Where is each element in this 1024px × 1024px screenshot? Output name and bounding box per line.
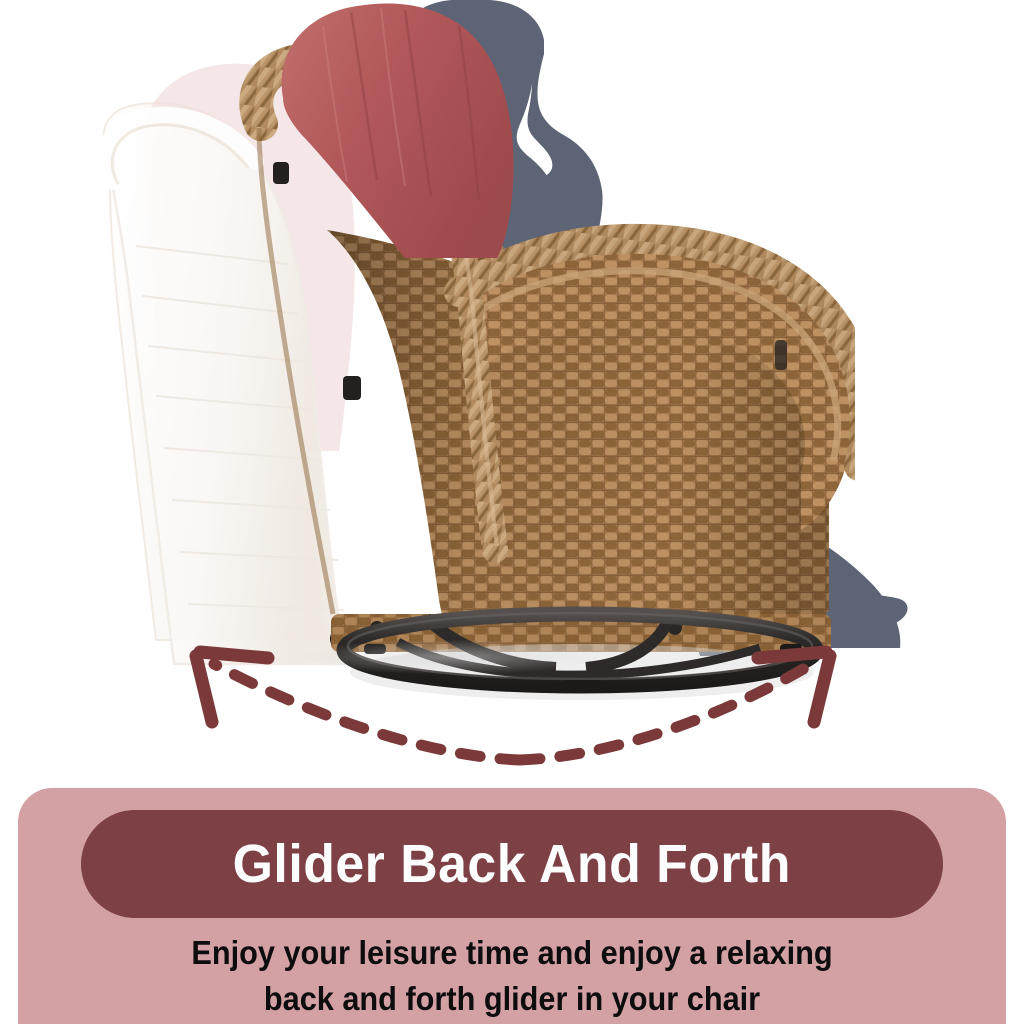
- glide-left-dashed-path: [214, 664, 520, 760]
- feature-title: Glider Back And Forth: [233, 833, 791, 895]
- feature-subtitle-line-2: back and forth glider in your chair: [53, 976, 972, 1022]
- glide-right-dashed-path: [520, 664, 812, 760]
- product-photo: [0, 0, 1024, 800]
- feature-subtitle: Enjoy your leisure time and enjoy a rela…: [53, 930, 972, 1022]
- feature-title-pill: Glider Back And Forth: [81, 810, 943, 918]
- feature-banner: Glider Back And Forth Enjoy your leisure…: [18, 788, 1006, 1024]
- seat-cushion: [255, 0, 585, 260]
- feature-subtitle-line-1: Enjoy your leisure time and enjoy a rela…: [53, 930, 972, 976]
- motion-arrows: [0, 560, 1024, 800]
- glide-left-arrowhead: [196, 652, 268, 722]
- product-feature-image: Glider Back And Forth Enjoy your leisure…: [0, 0, 1024, 1024]
